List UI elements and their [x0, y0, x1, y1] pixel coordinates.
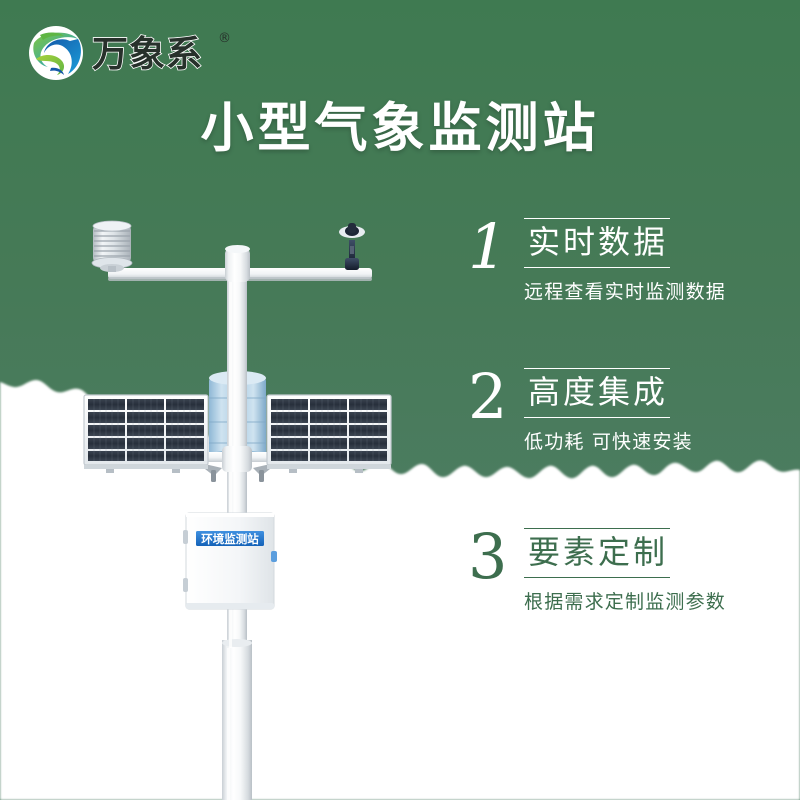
registered-trademark-icon: ® — [218, 31, 231, 46]
svg-text:万象系: 万象系 — [92, 34, 203, 75]
feature-heading-2: 高度集成 — [524, 368, 670, 418]
feature-block-1: 1 实时数据 远程查看实时监测数据 — [468, 216, 788, 304]
feature-subtitle-3: 根据需求定制监测参数 — [524, 590, 788, 615]
feature-block-2: 2 高度集成 低功耗 可快速安装 — [468, 366, 788, 454]
logo-wordmark: 万象系 ® — [92, 30, 244, 76]
feature-body-3: 要素定制 根据需求定制监测参数 — [524, 526, 788, 614]
feature-heading-1: 实时数据 — [524, 218, 670, 268]
page-title: 小型气象监测站 — [0, 98, 800, 161]
feature-block-3: 3 要素定制 根据需求定制监测参数 — [468, 526, 788, 614]
logo-globe-icon — [26, 23, 86, 83]
feature-number-2: 2 — [468, 366, 524, 428]
feature-body-2: 高度集成 低功耗 可快速安装 — [524, 366, 788, 454]
feature-subtitle-1: 远程查看实时监测数据 — [524, 280, 788, 305]
poster-canvas: 环境监测站 — [0, 0, 800, 800]
feature-body-1: 实时数据 远程查看实时监测数据 — [524, 216, 788, 304]
feature-subtitle-2: 低功耗 可快速安装 — [524, 430, 788, 455]
brand-logo: 万象系 ® — [26, 22, 241, 84]
feature-number-3: 3 — [468, 526, 524, 588]
feature-heading-3: 要素定制 — [524, 528, 670, 578]
feature-number-1: 1 — [468, 216, 524, 278]
